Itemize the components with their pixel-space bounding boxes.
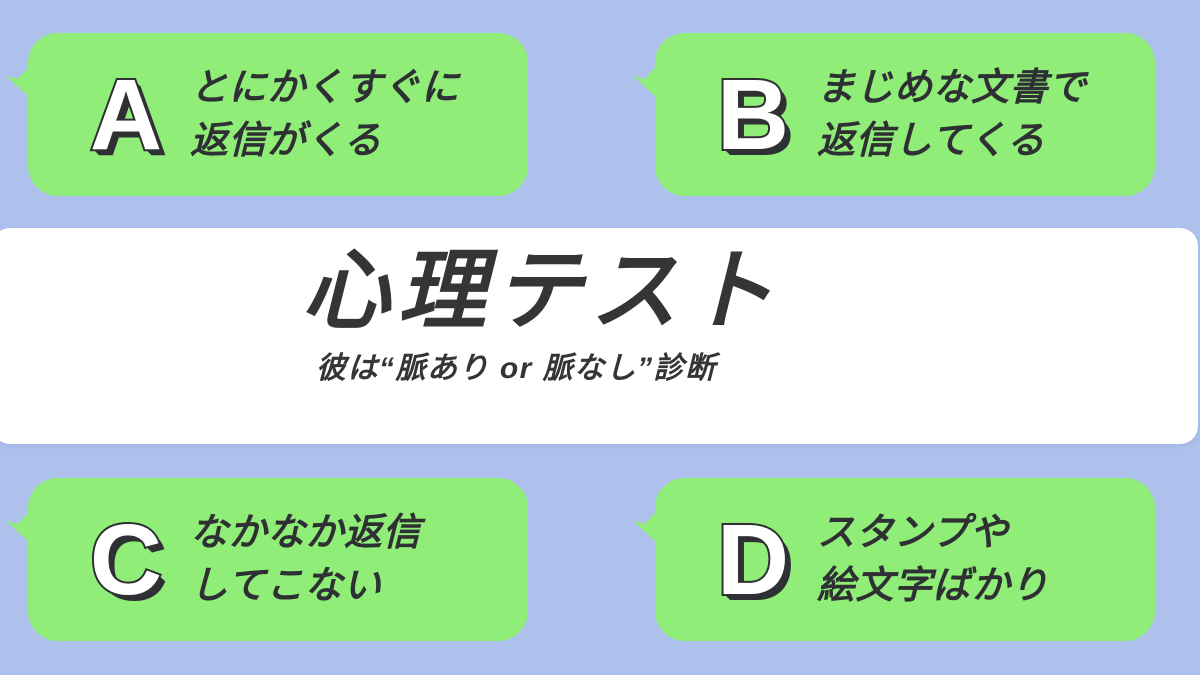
- option-bubble-c[interactable]: C なかなか返信 してこない: [28, 478, 528, 641]
- option-text-line: 絵文字ばかり: [817, 560, 1049, 612]
- option-text-c: なかなか返信 してこない: [190, 507, 421, 612]
- option-text-line: 返信してくる: [817, 115, 1087, 167]
- option-text-line: スタンプや: [817, 507, 1049, 559]
- page-title: 心理テスト: [302, 246, 862, 336]
- title-block: 心理テスト 彼は“脈あり or 脈なし”診断: [302, 246, 862, 384]
- speech-tail-icon: [633, 500, 667, 552]
- option-letter-c: C: [80, 510, 172, 610]
- option-text-line: してこない: [190, 560, 421, 612]
- quiz-card: A とにかくすぐに 返信がくる B まじめな文書で 返信してくる 心理テスト 彼…: [0, 0, 1200, 675]
- page-subtitle: 彼は“脈あり or 脈なし”診断: [316, 354, 862, 384]
- option-bubble-d[interactable]: D スタンプや 絵文字ばかり: [655, 478, 1155, 641]
- option-text-a: とにかくすぐに 返信がくる: [190, 62, 460, 167]
- option-text-line: 返信がくる: [190, 115, 460, 167]
- option-bubble-a[interactable]: A とにかくすぐに 返信がくる: [28, 33, 528, 196]
- option-text-line: とにかくすぐに: [190, 62, 460, 114]
- speech-tail-icon: [6, 55, 40, 107]
- option-text-d: スタンプや 絵文字ばかり: [817, 507, 1049, 612]
- speech-tail-icon: [6, 500, 40, 552]
- option-letter-b: B: [707, 65, 799, 165]
- option-letter-d: D: [707, 510, 799, 610]
- option-text-line: なかなか返信: [190, 507, 421, 559]
- option-text-b: まじめな文書で 返信してくる: [817, 62, 1087, 167]
- title-banner: 心理テスト 彼は“脈あり or 脈なし”診断: [0, 228, 1198, 444]
- speech-tail-icon: [633, 55, 667, 107]
- option-text-line: まじめな文書で: [817, 62, 1087, 114]
- option-letter-a: A: [80, 65, 172, 165]
- option-bubble-b[interactable]: B まじめな文書で 返信してくる: [655, 33, 1155, 196]
